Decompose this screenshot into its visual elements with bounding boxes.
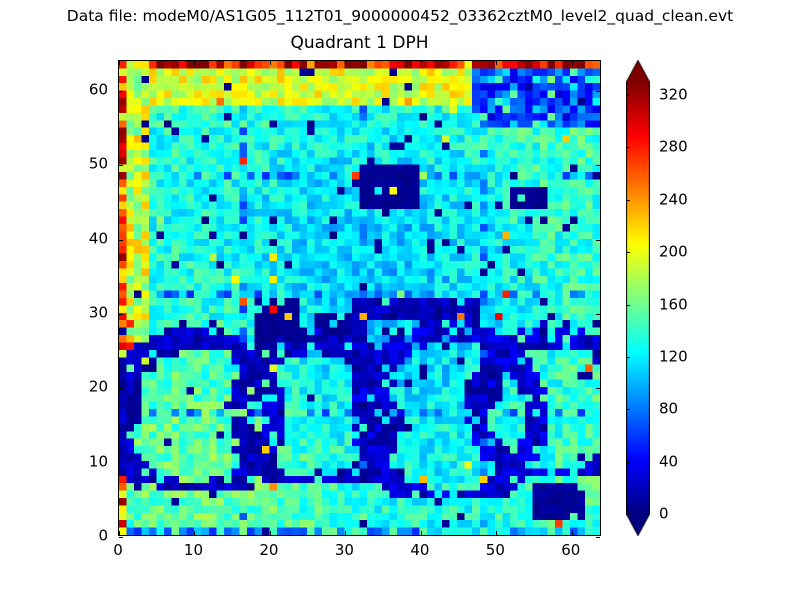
y-axis-tick — [119, 91, 123, 92]
x-axis-tick-top — [345, 61, 346, 65]
y-axis-tick-right — [596, 165, 600, 166]
figure-suptitle: Data file: modeM0/AS1G05_112T01_90000004… — [0, 7, 800, 26]
y-axis-tick-label: 60 — [0, 81, 108, 98]
x-axis-tick-label: 50 — [486, 542, 505, 559]
x-axis-tick-label: 10 — [184, 542, 203, 559]
x-axis-tick-top — [119, 61, 120, 65]
x-axis-tick-label: 60 — [561, 542, 580, 559]
colorbar-gradient — [626, 60, 650, 536]
y-axis-tick-label: 40 — [0, 230, 108, 247]
x-axis-tick — [421, 531, 422, 535]
y-axis-tick — [119, 165, 123, 166]
figure-canvas: Data file: modeM0/AS1G05_112T01_90000004… — [0, 0, 800, 600]
x-axis-tick — [194, 531, 195, 535]
colorbar[interactable]: 04080120160200240280320 — [626, 60, 650, 536]
colorbar-tick — [626, 514, 630, 515]
y-axis-tick — [119, 537, 123, 538]
heatmap-axes[interactable] — [118, 60, 601, 536]
x-axis-tick-top — [496, 61, 497, 65]
colorbar-tick — [626, 252, 630, 253]
x-axis-tick-label: 30 — [335, 542, 354, 559]
colorbar-tick — [626, 147, 630, 148]
y-axis-tick-right — [596, 388, 600, 389]
colorbar-tick — [626, 305, 630, 306]
y-axis-tick — [119, 463, 123, 464]
colorbar-tick-label: 160 — [659, 296, 688, 313]
y-axis-tick — [119, 388, 123, 389]
colorbar-tick-label: 200 — [659, 244, 688, 261]
x-axis-tick-top — [270, 61, 271, 65]
x-axis-tick-top — [194, 61, 195, 65]
colorbar-tick — [626, 462, 630, 463]
y-axis-tick-label: 10 — [0, 453, 108, 470]
colorbar-tick — [626, 200, 630, 201]
colorbar-tick — [626, 409, 630, 410]
colorbar-tick — [626, 95, 630, 96]
y-axis-tick-right — [596, 537, 600, 538]
y-axis-tick-right — [596, 240, 600, 241]
y-axis-tick-right — [596, 314, 600, 315]
x-axis-tick — [572, 531, 573, 535]
x-axis-tick — [270, 531, 271, 535]
y-axis-tick-label: 0 — [0, 528, 108, 545]
y-axis-tick-label: 30 — [0, 304, 108, 321]
y-axis-tick-label: 20 — [0, 379, 108, 396]
x-axis-tick-label: 40 — [410, 542, 429, 559]
colorbar-tick-label: 80 — [659, 401, 678, 418]
y-axis-tick — [119, 240, 123, 241]
x-axis-tick — [496, 531, 497, 535]
y-axis-tick-label: 50 — [0, 156, 108, 173]
page-title: Quadrant 1 DPH — [118, 33, 601, 54]
x-axis-tick-label: 20 — [259, 542, 278, 559]
colorbar-tick-label: 320 — [659, 87, 688, 104]
colorbar-tick-label: 0 — [659, 506, 669, 523]
x-axis-tick-top — [572, 61, 573, 65]
x-axis-tick — [345, 531, 346, 535]
colorbar-tick-label: 240 — [659, 191, 688, 208]
detector-pixel-map[interactable] — [119, 61, 600, 535]
x-axis-tick-label: 0 — [113, 542, 123, 559]
x-axis-tick — [119, 531, 120, 535]
colorbar-tick-label: 280 — [659, 139, 688, 156]
y-axis-tick-right — [596, 91, 600, 92]
colorbar-tick-label: 120 — [659, 348, 688, 365]
colorbar-tick-label: 40 — [659, 453, 678, 470]
y-axis-tick-right — [596, 463, 600, 464]
y-axis-tick — [119, 314, 123, 315]
colorbar-tick — [626, 357, 630, 358]
x-axis-tick-top — [421, 61, 422, 65]
